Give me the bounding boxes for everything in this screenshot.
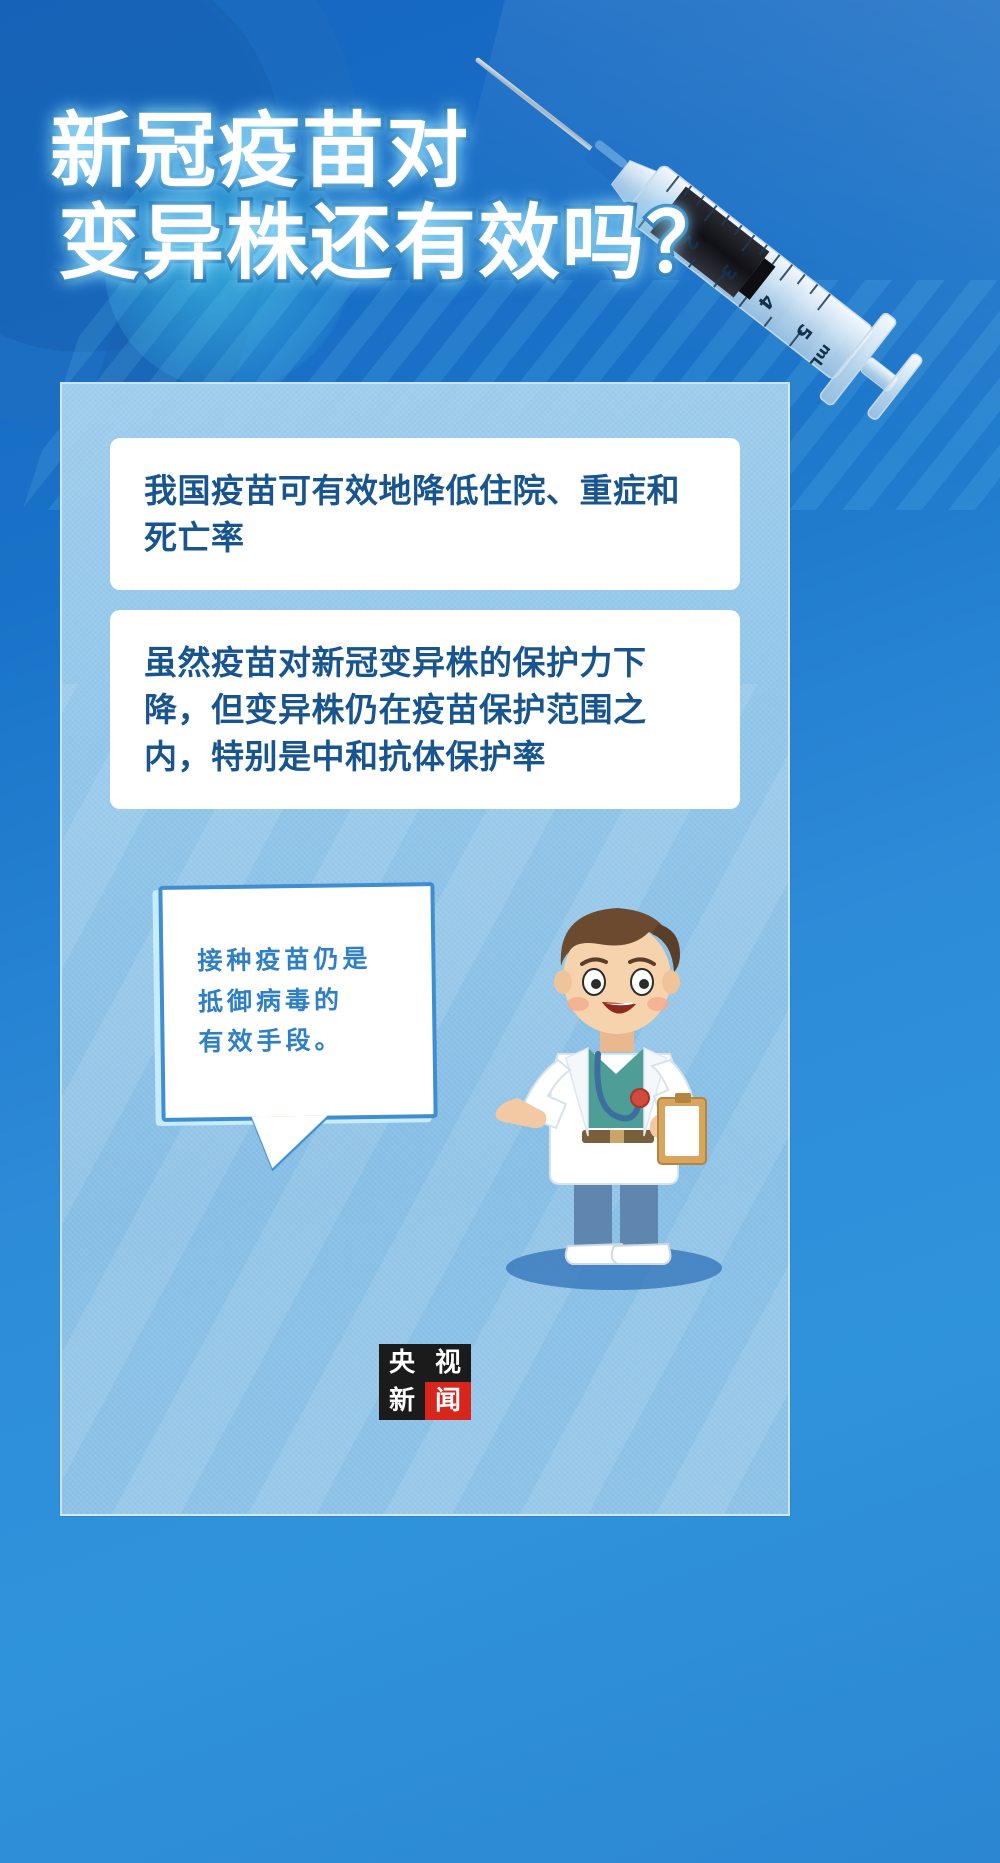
poster-root: 2 3 4 5 mL 新冠疫苗对 变异株还有效吗？ 我国疫苗可有效地降低住院、重…	[0, 0, 1000, 1863]
cctv-news-logo: 央 视 新 闻	[379, 1344, 471, 1420]
speech-bubble: 接种疫苗仍是 抵御病毒的 有效手段。	[158, 882, 437, 1122]
content-panel: 我国疫苗可有效地降低住院、重症和死亡率 虽然疫苗对新冠变异株的保护力下降，但变异…	[60, 382, 790, 1516]
info-card-1: 我国疫苗可有效地降低住院、重症和死亡率	[110, 438, 740, 590]
title-line-2: 变异株还有效吗？	[58, 200, 950, 288]
info-card-2-text: 虽然疫苗对新冠变异株的保护力下降，但变异株仍在疫苗保护范围之内，特别是中和抗体保…	[144, 640, 706, 781]
logo-char-2: 视	[425, 1344, 471, 1382]
doctor-icon	[462, 862, 762, 1292]
info-card-1-text: 我国疫苗可有效地降低住院、重症和死亡率	[144, 468, 706, 562]
logo-char-1: 央	[379, 1344, 425, 1382]
speech-bubble-text: 接种疫苗仍是 抵御病毒的 有效手段。	[197, 939, 373, 1063]
logo-char-3: 新	[379, 1382, 425, 1420]
logo-char-4: 闻	[425, 1382, 471, 1420]
speech-bubble-tail	[252, 1116, 329, 1169]
poster-title: 新冠疫苗对 变异株还有效吗？	[50, 108, 950, 287]
title-line-1: 新冠疫苗对	[50, 108, 950, 196]
info-card-2: 虽然疫苗对新冠变异株的保护力下降，但变异株仍在疫苗保护范围之内，特别是中和抗体保…	[110, 610, 740, 809]
